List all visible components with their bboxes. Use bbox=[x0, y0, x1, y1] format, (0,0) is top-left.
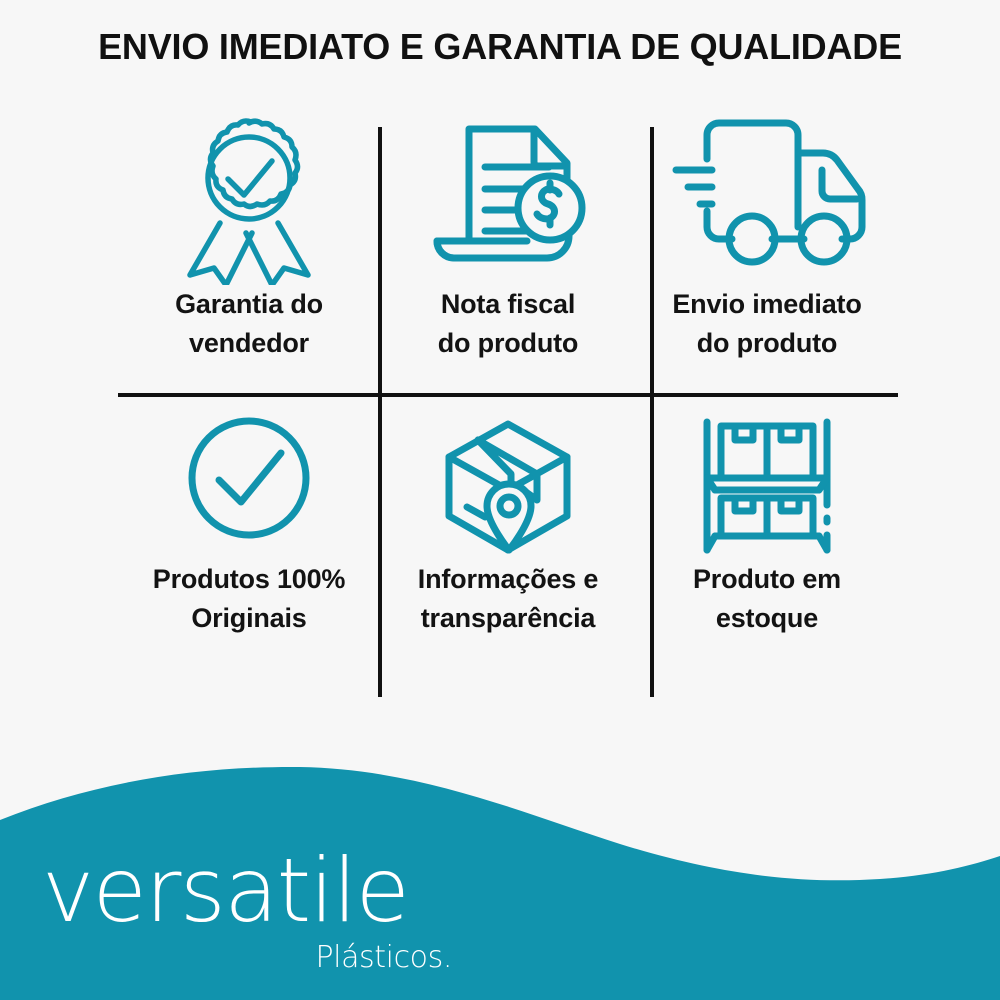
warehouse-shelf-boxes-icon bbox=[677, 410, 857, 560]
feature-label: Envio imediato do produto bbox=[672, 285, 861, 363]
delivery-truck-icon bbox=[652, 115, 882, 285]
brand-tagline: Plásticos. bbox=[42, 941, 462, 975]
feature-cell-produtos-originais: Produtos 100% Originais bbox=[118, 410, 380, 699]
brand-logo: versatile Plásticos. bbox=[42, 845, 462, 975]
invoice-document-dollar-icon bbox=[423, 115, 593, 285]
feature-label: Nota fiscal do produto bbox=[438, 285, 578, 363]
feature-cell-garantia-vendedor: Garantia do vendedor bbox=[118, 115, 380, 394]
feature-label: Informações e transparência bbox=[418, 560, 598, 638]
page-title: ENVIO IMEDIATO E GARANTIA DE QUALIDADE bbox=[0, 26, 1000, 68]
feature-grid: Garantia do vendedor bbox=[118, 115, 898, 699]
feature-cell-envio-imediato: Envio imediato do produto bbox=[636, 115, 898, 394]
feature-label: Produto em estoque bbox=[693, 560, 841, 638]
feature-cell-informacoes-transparencia: Informações e transparência bbox=[377, 410, 639, 699]
feature-cell-produto-estoque: Produto em estoque bbox=[636, 410, 898, 699]
package-box-location-pin-icon bbox=[423, 410, 593, 560]
circle-check-icon bbox=[174, 410, 324, 560]
feature-label: Garantia do vendedor bbox=[175, 285, 323, 363]
feature-cell-nota-fiscal: Nota fiscal do produto bbox=[377, 115, 639, 394]
brand-name: versatile bbox=[42, 845, 462, 937]
infographic-page: ENVIO IMEDIATO E GARANTIA DE QUALIDADE bbox=[0, 0, 1000, 1000]
award-badge-check-icon bbox=[174, 115, 324, 285]
feature-label: Produtos 100% Originais bbox=[153, 560, 345, 638]
